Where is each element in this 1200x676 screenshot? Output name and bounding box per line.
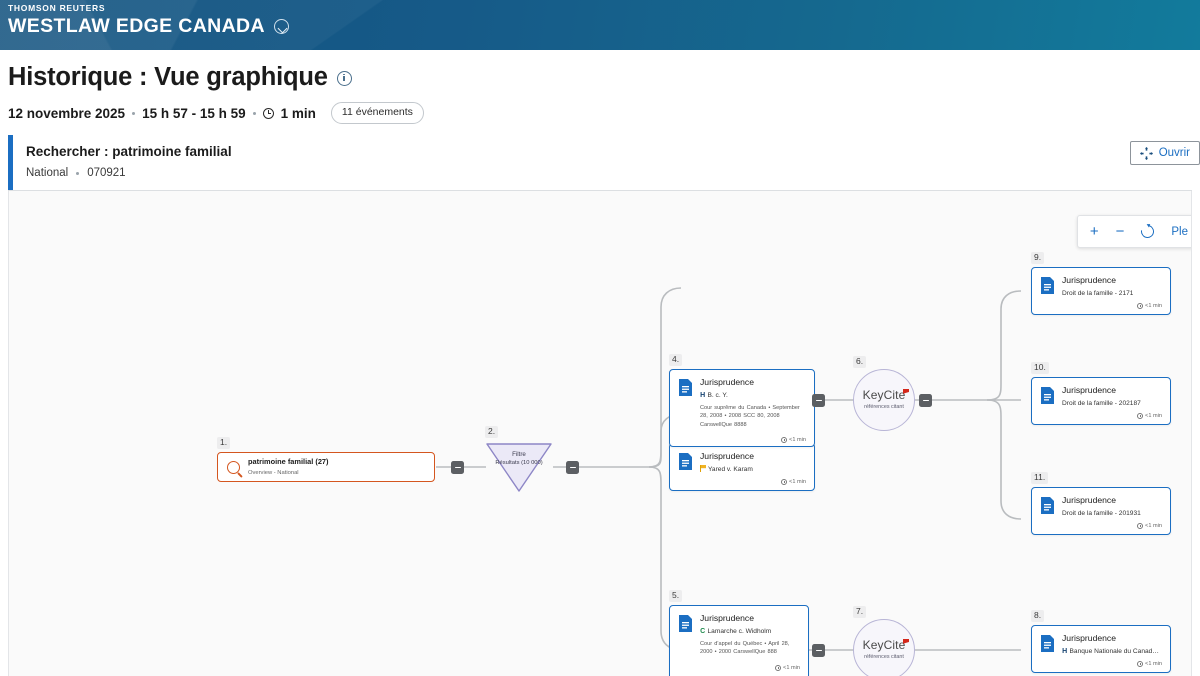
document-duration-text: <1 min bbox=[1145, 303, 1162, 309]
query-title: Rechercher : patrimoine familial bbox=[26, 142, 1192, 161]
document-duration: <1 min bbox=[700, 437, 806, 443]
document-icon bbox=[1040, 386, 1055, 405]
brand-eyebrow: THOMSON REUTERS bbox=[8, 3, 289, 14]
keycite-brand-wrap: KeyCite bbox=[863, 639, 906, 652]
search-query-text: patrimoine familial (27) bbox=[248, 457, 329, 467]
graph-node-document[interactable]: 9. Jurisprudence Droit de la famille - 2… bbox=[1031, 267, 1171, 315]
query-context-card: Rechercher : patrimoine familial Nationa… bbox=[8, 135, 1192, 191]
expand-view-label: Ouvrir bbox=[1159, 147, 1190, 159]
document-card[interactable]: Jurisprudence C Lamarche c. Widholm Cour… bbox=[669, 605, 809, 676]
expand-arrows-icon bbox=[1140, 147, 1153, 160]
clock-icon bbox=[1137, 413, 1143, 419]
graph-node-document[interactable]: 5. Jurisprudence C Lamarche c. Widholm C… bbox=[669, 605, 809, 676]
filter-triangle-icon bbox=[483, 439, 555, 495]
document-title-row: Droit de la famille - 2171 bbox=[1062, 289, 1162, 298]
search-icon bbox=[227, 461, 240, 474]
document-title: Banque Nationale du Canada c. Trapani… bbox=[1070, 647, 1163, 656]
blue-h-icon: H bbox=[1062, 647, 1068, 654]
document-card[interactable]: Jurisprudence Yared v. Karam <1 min bbox=[669, 443, 815, 491]
document-icon bbox=[1040, 634, 1055, 653]
document-body: Jurisprudence Droit de la famille - 2171… bbox=[1062, 275, 1162, 309]
graph-node-document[interactable]: 8. Jurisprudence H Banque Nationale du C… bbox=[1031, 625, 1171, 673]
graph-node-document[interactable]: 4. Jurisprudence H B. c. Y. Cour suprême… bbox=[669, 369, 815, 447]
clock-icon bbox=[1137, 523, 1143, 529]
clock-icon bbox=[1137, 303, 1143, 309]
keycite-brand: KeyCite bbox=[863, 388, 906, 402]
minus-collapse-icon[interactable] bbox=[812, 644, 825, 657]
brand-logo[interactable]: THOMSON REUTERS WESTLAW EDGE CANADA bbox=[8, 3, 289, 38]
node-number: 5. bbox=[669, 590, 682, 602]
svg-text:C: C bbox=[700, 628, 705, 634]
clock-icon bbox=[781, 479, 787, 485]
keycite-node-circle[interactable]: KeyCite références citant bbox=[853, 369, 915, 431]
session-meta: 12 novembre 2025 15 h 57 - 15 h 59 1 min… bbox=[8, 102, 1200, 124]
document-title: Droit de la famille - 202187 bbox=[1062, 399, 1141, 408]
document-body: Jurisprudence Droit de la famille - 2021… bbox=[1062, 385, 1162, 419]
node-number: 8. bbox=[1031, 610, 1044, 622]
document-title: Droit de la famille - 2171 bbox=[1062, 289, 1133, 298]
page-title: Historique : Vue graphique bbox=[8, 62, 328, 92]
keycite-brand-wrap: KeyCite bbox=[863, 389, 906, 402]
document-title-row: H Banque Nationale du Canada c. Trapani… bbox=[1062, 647, 1162, 656]
document-duration: <1 min bbox=[1062, 661, 1162, 667]
document-title: Yared v. Karam bbox=[708, 465, 753, 474]
meta-separator-dot bbox=[253, 112, 256, 115]
expand-view-button[interactable]: Ouvrir bbox=[1130, 141, 1200, 165]
zoom-in-button[interactable]: + bbox=[1090, 223, 1099, 240]
document-duration-text: <1 min bbox=[1145, 413, 1162, 419]
reset-rotate-icon[interactable] bbox=[1139, 222, 1157, 240]
graph-node-document[interactable]: 11. Jurisprudence Droit de la famille - … bbox=[1031, 487, 1171, 535]
document-card[interactable]: Jurisprudence H Banque Nationale du Cana… bbox=[1031, 625, 1171, 673]
document-title-row: Droit de la famille - 202187 bbox=[1062, 399, 1162, 408]
document-citation: Cour suprême du Canada • September 28, 2… bbox=[700, 404, 806, 430]
svg-text:H: H bbox=[700, 392, 705, 398]
search-scope-text: Overview - National bbox=[248, 469, 329, 477]
zoom-out-button[interactable]: − bbox=[1116, 223, 1125, 240]
graph-node-document[interactable]: 3. Jurisprudence Yared v. Karam bbox=[669, 443, 815, 491]
page-title-row: Historique : Vue graphique bbox=[8, 62, 1200, 92]
document-icon bbox=[678, 378, 693, 397]
keycite-flag-icon bbox=[903, 639, 910, 644]
document-body: Jurisprudence C Lamarche c. Widholm Cour… bbox=[700, 613, 800, 676]
session-duration: 1 min bbox=[281, 106, 316, 121]
yellow-flag-icon bbox=[700, 465, 706, 472]
query-subline: National 070921 bbox=[26, 166, 1192, 181]
node-number: 10. bbox=[1031, 362, 1049, 374]
document-body: Jurisprudence H Banque Nationale du Cana… bbox=[1062, 633, 1162, 667]
document-title: B. c. Y. bbox=[708, 391, 728, 400]
node-number: 11. bbox=[1031, 472, 1048, 484]
document-duration: <1 min bbox=[1062, 303, 1162, 309]
minus-collapse-icon[interactable] bbox=[812, 394, 825, 407]
document-kind: Jurisprudence bbox=[1062, 633, 1162, 644]
session-time-range: 15 h 57 - 15 h 59 bbox=[142, 106, 246, 121]
filter-node-shape[interactable]: Filtre Résultats (10 000) bbox=[483, 439, 555, 495]
document-card[interactable]: Jurisprudence Droit de la famille - 2021… bbox=[1031, 377, 1171, 425]
search-node-body: patrimoine familial (27) Overview - Nati… bbox=[248, 457, 329, 477]
document-card[interactable]: Jurisprudence H B. c. Y. Cour suprême du… bbox=[669, 369, 815, 447]
keycite-subtitle: références citant bbox=[864, 404, 904, 411]
document-body: Jurisprudence H B. c. Y. Cour suprême du… bbox=[700, 377, 806, 441]
graph-node-document[interactable]: 10. Jurisprudence Droit de la famille - … bbox=[1031, 377, 1171, 425]
document-kind: Jurisprudence bbox=[1062, 495, 1162, 506]
filter-node-title: Filtre bbox=[483, 451, 555, 459]
node-number: 2. bbox=[485, 426, 498, 438]
document-icon bbox=[678, 614, 693, 633]
brand-product-name: WESTLAW EDGE CANADA bbox=[8, 15, 265, 38]
graph-node-keycite[interactable]: 7. KeyCite références citant bbox=[853, 619, 915, 676]
document-duration: <1 min bbox=[700, 479, 806, 485]
graph-node-filter[interactable]: 2. Filtre Résultats (10 000) bbox=[483, 439, 555, 495]
blue-h-icon: H bbox=[700, 391, 706, 398]
document-body: Jurisprudence Droit de la famille - 2019… bbox=[1062, 495, 1162, 529]
document-title-row: C Lamarche c. Widholm bbox=[700, 627, 800, 636]
graph-node-keycite[interactable]: 6. KeyCite références citant bbox=[853, 369, 915, 431]
clock-icon bbox=[775, 665, 781, 671]
document-duration: <1 min bbox=[700, 665, 800, 671]
document-card[interactable]: Jurisprudence Droit de la famille - 2171… bbox=[1031, 267, 1171, 315]
document-title: Lamarche c. Widholm bbox=[708, 627, 772, 636]
brand-product-row: WESTLAW EDGE CANADA bbox=[8, 15, 289, 38]
node-number: 6. bbox=[853, 356, 866, 368]
document-icon bbox=[678, 452, 693, 471]
meta-separator-dot bbox=[132, 112, 135, 115]
minus-collapse-icon[interactable] bbox=[919, 394, 932, 407]
minus-collapse-icon[interactable] bbox=[566, 461, 579, 474]
filter-node-labels: Filtre Résultats (10 000) bbox=[483, 451, 555, 467]
clock-icon bbox=[1137, 661, 1143, 667]
document-body: Jurisprudence Yared v. Karam <1 min bbox=[700, 451, 806, 485]
node-number: 1. bbox=[217, 437, 230, 449]
clock-icon bbox=[263, 108, 274, 119]
keycite-subtitle: références citant bbox=[864, 654, 904, 661]
session-date: 12 novembre 2025 bbox=[8, 106, 125, 121]
document-duration-text: <1 min bbox=[783, 665, 800, 671]
node-number: 4. bbox=[669, 354, 682, 366]
document-duration-text: <1 min bbox=[789, 479, 806, 485]
document-duration-text: <1 min bbox=[789, 437, 806, 443]
document-citation: Cour d'appel du Québec • April 28, 2000 … bbox=[700, 640, 800, 657]
node-number: 9. bbox=[1031, 252, 1044, 264]
document-card[interactable]: Jurisprudence Droit de la famille - 2019… bbox=[1031, 487, 1171, 535]
page-header: Historique : Vue graphique 12 novembre 2… bbox=[0, 50, 1200, 124]
info-icon[interactable] bbox=[337, 71, 352, 86]
document-title: Droit de la famille - 201931 bbox=[1062, 509, 1141, 518]
events-count-badge: 11 événements bbox=[331, 102, 424, 124]
clock-icon bbox=[781, 437, 787, 443]
document-duration-text: <1 min bbox=[1145, 661, 1162, 667]
document-kind: Jurisprudence bbox=[700, 377, 806, 388]
graph-node-search[interactable]: 1. patrimoine familial (27) Overview - N… bbox=[217, 452, 435, 482]
document-title-row: Droit de la famille - 201931 bbox=[1062, 509, 1162, 518]
query-id: 070921 bbox=[87, 166, 125, 181]
chevron-down-circle-icon[interactable] bbox=[274, 19, 289, 34]
meta-separator-dot bbox=[76, 172, 79, 175]
document-kind: Jurisprudence bbox=[1062, 385, 1162, 396]
graph-edges bbox=[9, 191, 1192, 676]
node-number: 7. bbox=[853, 606, 866, 618]
document-title-row: Yared v. Karam bbox=[700, 465, 806, 474]
document-duration-text: <1 min bbox=[1145, 523, 1162, 529]
reset-zoom-label: Ple bbox=[1171, 226, 1188, 238]
search-node-card[interactable]: patrimoine familial (27) Overview - Nati… bbox=[217, 452, 435, 482]
query-scope: National bbox=[26, 166, 68, 181]
green-c-icon: C bbox=[700, 627, 706, 634]
document-duration: <1 min bbox=[1062, 413, 1162, 419]
graph-canvas[interactable]: + − Ple 1. patrimoine familial (27) Over… bbox=[8, 191, 1192, 676]
filter-node-detail: Résultats (10 000) bbox=[495, 460, 542, 466]
keycite-brand: KeyCite bbox=[863, 638, 906, 652]
keycite-flag-icon bbox=[903, 389, 910, 394]
document-duration: <1 min bbox=[1062, 523, 1162, 529]
keycite-node-circle[interactable]: KeyCite références citant bbox=[853, 619, 915, 676]
document-title-row: H B. c. Y. bbox=[700, 391, 806, 400]
document-kind: Jurisprudence bbox=[1062, 275, 1162, 286]
svg-text:H: H bbox=[1062, 648, 1067, 654]
document-kind: Jurisprudence bbox=[700, 451, 806, 462]
document-icon bbox=[1040, 496, 1055, 515]
brand-bar: THOMSON REUTERS WESTLAW EDGE CANADA bbox=[0, 0, 1200, 50]
minus-collapse-icon[interactable] bbox=[451, 461, 464, 474]
document-kind: Jurisprudence bbox=[700, 613, 800, 624]
document-icon bbox=[1040, 276, 1055, 295]
zoom-toolbar[interactable]: + − Ple bbox=[1077, 215, 1192, 248]
